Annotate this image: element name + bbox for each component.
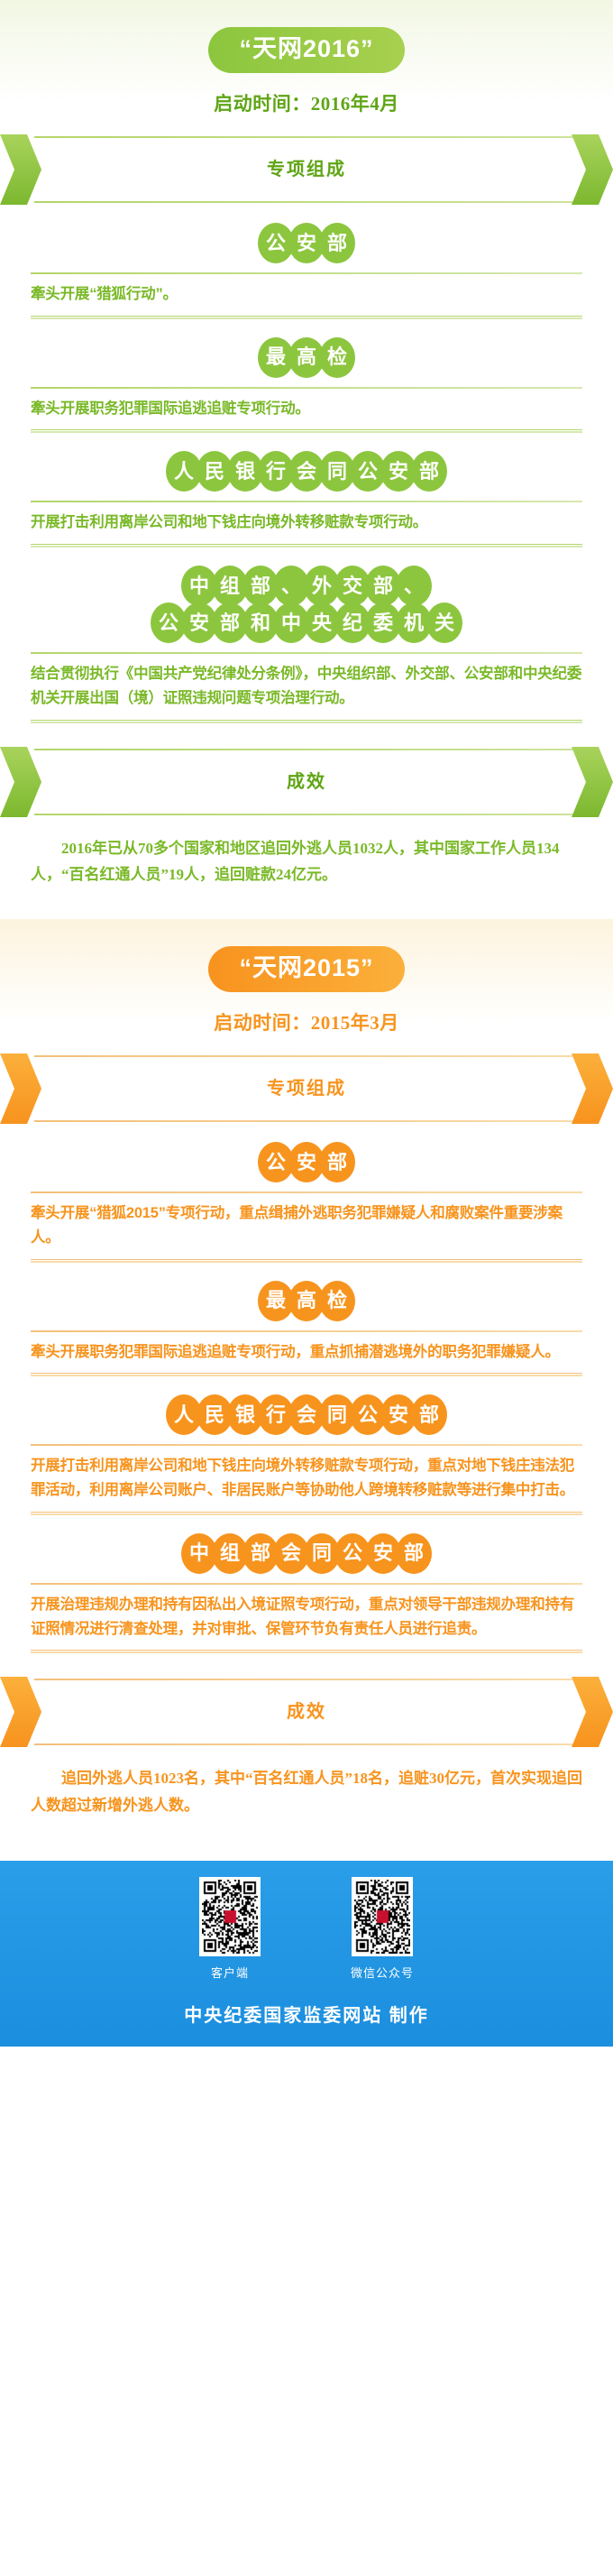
group-body-text: 牽头开展职务犯罪国际追逃追赃专项行动。: [31, 397, 582, 421]
agency-badge: 最高检: [0, 319, 613, 382]
results-text: 2016年已从70多个国家和地区追回外逃人员1032人，其中国家工作人员134人…: [0, 817, 613, 920]
qr-code-icon[interactable]: [199, 1877, 261, 1956]
sections-container: “天网2016”启动时间：2016年4月专项组成公安部牽头开展“猎狐行动”。最高…: [0, 0, 613, 1850]
results-title: 成效: [0, 1697, 613, 1723]
agency-badge-row: 最高检: [0, 1281, 613, 1321]
section-title-wrap: “天网2016”: [0, 0, 613, 73]
text-rule-top: [31, 1583, 582, 1585]
results-band: 成效: [0, 747, 613, 817]
text-rule-bottom: [31, 429, 582, 433]
text-rule-top: [31, 387, 582, 389]
results-rule-top: [34, 749, 579, 750]
text-rule-bottom: [31, 1512, 582, 1515]
text-rule-top: [31, 1330, 582, 1332]
group-body-text: 牽头开展职务犯罪国际追逃追赃专项行动，重点抓捕潜逃境外的职务犯罪嫌疑人。: [31, 1340, 582, 1365]
text-rule-bottom: [31, 720, 582, 723]
section-tianwang-2016: “天网2016”启动时间：2016年4月专项组成公安部牽头开展“猎狐行动”。最高…: [0, 0, 613, 919]
agency-badge: 中组部、外交部、公安部和中央纪委机关: [0, 547, 613, 647]
qr-code-row: 客户端 微信公众号: [0, 1877, 613, 1981]
start-time-label: 启动时间：2016年4月: [0, 73, 613, 131]
results-text: 追回外逃人员1023名，其中“百名红通人员”18名，追赃30亿元，首次实现追回人…: [0, 1747, 613, 1850]
results-rule-bottom: [34, 1743, 579, 1745]
infographic-page: “天网2016”启动时间：2016年4月专项组成公安部牽头开展“猎狐行动”。最高…: [0, 0, 613, 2047]
agency-badge-char: 部: [319, 223, 355, 263]
composition-rule-top: [34, 1055, 579, 1057]
agency-badge-row: 人民银行会同公安部: [0, 451, 613, 492]
section-title-pill: “天网2015”: [208, 946, 404, 992]
agency-badge-char: 部: [319, 1142, 355, 1182]
composition-band: 专项组成: [0, 1053, 613, 1124]
qr-item-app[interactable]: 客户端: [199, 1877, 261, 1981]
group-text-block: 开展治理违规办理和持有因私出入境证照专项行动，重点对领导干部违规办理和持有证照情…: [0, 1583, 613, 1653]
agency-badge: 人民银行会同公安部: [0, 433, 613, 495]
agency-badge: 人民银行会同公安部: [0, 1376, 613, 1439]
text-rule-top: [31, 1444, 582, 1446]
agency-badge: 公安部: [0, 205, 613, 267]
group-text-block: 牽头开展职务犯罪国际追逃追赃专项行动，重点抓捕潜逃境外的职务犯罪嫌疑人。: [0, 1330, 613, 1377]
composition-rule-top: [34, 136, 579, 138]
results-band: 成效: [0, 1677, 613, 1747]
group-text-block: 牽头开展“猎狐行动”。: [0, 272, 613, 319]
agency-badge-char: 部: [411, 451, 447, 492]
agency-badge-row: 公安部: [0, 1142, 613, 1182]
text-rule-top: [31, 1191, 582, 1193]
section-title-wrap: “天网2015”: [0, 919, 613, 992]
group-body-text: 开展打击利用离岸公司和地下钱庄向境外转移赃款专项行动。: [31, 511, 582, 535]
composition-rule-bottom: [34, 201, 579, 203]
group-body-text: 开展治理违规办理和持有因私出入境证照专项行动，重点对领导干部违规办理和持有证照情…: [31, 1593, 582, 1641]
composition-band: 专项组成: [0, 134, 613, 205]
start-time-label: 启动时间：2015年3月: [0, 992, 613, 1050]
agency-badge-char: 关: [426, 603, 462, 643]
footer-gap: [0, 1850, 613, 1861]
group-text-block: 开展打击利用离岸公司和地下钱庄向境外转移赃款专项行动，重点对地下钱庄违法犯罪活动…: [0, 1444, 613, 1514]
agency-badge: 最高检: [0, 1263, 613, 1325]
band-spacer: [0, 1653, 613, 1673]
text-rule-bottom: [31, 316, 582, 319]
qr-item-wechat[interactable]: 微信公众号: [351, 1877, 414, 1981]
text-rule-top: [31, 652, 582, 654]
agency-badge-row: 公安部和中央纪委机关: [0, 603, 613, 643]
results-title: 成效: [0, 767, 613, 793]
group-body-text: 牽头开展“猎狐行动”。: [31, 282, 582, 307]
agency-badge-char: 检: [319, 337, 355, 378]
agency-badge: 公安部: [0, 1124, 613, 1186]
agency-badge: 中组部会同公安部: [0, 1515, 613, 1578]
group-body-text: 牽头开展“猎狐2015”专项行动，重点缉捕外逃职务犯罪嫌疑人和腐败案件重要涉案人…: [31, 1201, 582, 1249]
agency-badge-row: 公安部: [0, 223, 613, 263]
footer-credit: 中央纪委国家监委网站 制作: [0, 2001, 613, 2027]
group-text-block: 结合贯彻执行《中国共产党纪律处分条例》，中央组织部、外交部、公安部和中央纪委机关…: [0, 652, 613, 722]
band-spacer: [0, 723, 613, 743]
group-text-block: 开展打击利用离岸公司和地下钱庄向境外转移赃款专项行动。: [0, 501, 613, 547]
text-rule-top: [31, 272, 582, 274]
text-rule-bottom: [31, 1373, 582, 1376]
text-rule-top: [31, 501, 582, 502]
text-rule-bottom: [31, 1259, 582, 1263]
qr-label-wechat: 微信公众号: [351, 1964, 414, 1981]
agency-badge-char: 、: [396, 566, 432, 606]
page-footer: 客户端 微信公众号 中央纪委国家监委网站 制作: [0, 1861, 613, 2047]
agency-badge-char: 检: [319, 1281, 355, 1321]
agency-badge-row: 中组部、外交部、: [0, 566, 613, 606]
text-rule-bottom: [31, 1650, 582, 1653]
composition-title: 专项组成: [0, 1073, 613, 1099]
group-text-block: 牽头开展“猎狐2015”专项行动，重点缉捕外逃职务犯罪嫌疑人和腐败案件重要涉案人…: [0, 1191, 613, 1262]
agency-badge-row: 人民银行会同公安部: [0, 1394, 613, 1435]
agency-badge-row: 中组部会同公安部: [0, 1533, 613, 1574]
text-rule-bottom: [31, 544, 582, 547]
results-rule-bottom: [34, 814, 579, 815]
agency-badge-row: 最高检: [0, 337, 613, 378]
agency-badge-char: 部: [396, 1533, 432, 1574]
section-title-pill: “天网2016”: [208, 27, 404, 73]
composition-title: 专项组成: [0, 154, 613, 180]
section-tianwang-2015: “天网2015”启动时间：2015年3月专项组成公安部牽头开展“猎狐2015”专…: [0, 919, 613, 1850]
composition-rule-bottom: [34, 1120, 579, 1122]
qr-label-app: 客户端: [199, 1964, 261, 1981]
group-body-text: 结合贯彻执行《中国共产党纪律处分条例》，中央组织部、外交部、公安部和中央纪委机关…: [31, 662, 582, 710]
group-body-text: 开展打击利用离岸公司和地下钱庄向境外转移赃款专项行动，重点对地下钱庄违法犯罪活动…: [31, 1454, 582, 1502]
group-text-block: 牽头开展职务犯罪国际追逃追赃专项行动。: [0, 387, 613, 434]
agency-badge-char: 部: [411, 1394, 447, 1435]
results-rule-top: [34, 1679, 579, 1680]
qr-code-icon[interactable]: [352, 1877, 413, 1956]
